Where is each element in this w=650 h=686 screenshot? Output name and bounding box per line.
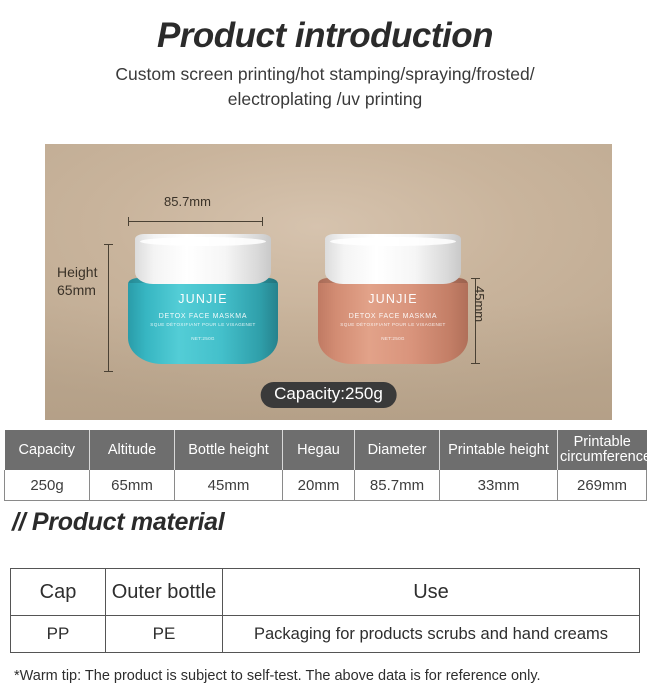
spec-table-value-row: 250g 65mm 45mm 20mm 85.7mm 33mm 269mm	[5, 470, 647, 500]
spec-header-bottle-height: Bottle height	[175, 430, 283, 470]
teal-jar-net-weight: NET:250G	[128, 336, 278, 341]
spec-header-altitude: Altitude	[90, 430, 175, 470]
pink-jar-net-weight: NET:250G	[318, 336, 468, 341]
spec-value-hegau: 20mm	[283, 470, 355, 500]
spec-value-capacity: 250g	[5, 470, 90, 500]
spec-header-printable-height: Printable height	[440, 430, 558, 470]
warm-tip-text: *Warm tip: The product is subject to sel…	[14, 668, 541, 684]
spec-value-printable-circumference: 269mm	[558, 470, 647, 500]
width-dimension-label: 85.7mm	[164, 194, 211, 209]
spec-header-printable-circumference: Printable circumference	[558, 430, 647, 470]
height-dimension-line	[108, 244, 109, 372]
spec-value-printable-height: 33mm	[440, 470, 558, 500]
height-dimension-label-value: 65mm	[57, 282, 97, 300]
teal-jar-french-line: SQUE DÉTOXIFIANT POUR LE VISAGENET	[128, 322, 278, 327]
teal-jar-body: JUNJIE DETOX FACE MASKMA SQUE DÉTOXIFIAN…	[128, 278, 278, 364]
pink-jar-lid	[325, 234, 461, 284]
material-header-outer-bottle: Outer bottle	[106, 569, 223, 616]
product-introduction-page: Product introduction Custom screen print…	[0, 16, 650, 686]
spec-table-header-row: Capacity Altitude Bottle height Hegau Di…	[5, 430, 647, 470]
product-photo: 85.7mm Height 65mm JUNJIE DETOX FACE MAS…	[45, 144, 612, 420]
material-value-cap: PP	[11, 616, 106, 653]
material-value-outer-bottle: PE	[106, 616, 223, 653]
height-dimension-label: Height 65mm	[57, 264, 97, 299]
spec-value-altitude: 65mm	[90, 470, 175, 500]
body-height-dimension-label: 45mm	[472, 286, 487, 322]
pink-jar: JUNJIE DETOX FACE MASKMA SQUE DÉTOXIFIAN…	[318, 234, 468, 364]
spec-header-diameter: Diameter	[355, 430, 440, 470]
material-table: Cap Outer bottle Use PP PE Packaging for…	[10, 568, 640, 653]
teal-jar-brand: JUNJIE	[128, 292, 278, 306]
pink-jar-body: JUNJIE DETOX FACE MASKMA SQUE DÉTOXIFIAN…	[318, 278, 468, 364]
spec-header-hegau: Hegau	[283, 430, 355, 470]
spec-header-capacity: Capacity	[5, 430, 90, 470]
material-header-use: Use	[223, 569, 640, 616]
spec-value-diameter: 85.7mm	[355, 470, 440, 500]
teal-jar: JUNJIE DETOX FACE MASKMA SQUE DÉTOXIFIAN…	[128, 234, 278, 364]
teal-jar-label: JUNJIE DETOX FACE MASKMA SQUE DÉTOXIFIAN…	[128, 292, 278, 341]
pink-jar-product-line: DETOX FACE MASKMA	[318, 313, 468, 320]
page-title: Product introduction	[0, 16, 650, 56]
teal-jar-lid	[135, 234, 271, 284]
material-table-header-row: Cap Outer bottle Use	[11, 569, 640, 616]
height-dimension-label-word: Height	[57, 264, 97, 282]
pink-jar-brand: JUNJIE	[318, 292, 468, 306]
material-value-use: Packaging for products scrubs and hand c…	[223, 616, 640, 653]
material-header-cap: Cap	[11, 569, 106, 616]
pink-jar-label: JUNJIE DETOX FACE MASKMA SQUE DÉTOXIFIAN…	[318, 292, 468, 341]
spec-table: Capacity Altitude Bottle height Hegau Di…	[4, 430, 647, 501]
width-dimension-line	[128, 221, 263, 222]
pink-jar-french-line: SQUE DÉTOXIFIANT POUR LE VISAGENET	[318, 322, 468, 327]
spec-value-bottle-height: 45mm	[175, 470, 283, 500]
material-table-value-row: PP PE Packaging for products scrubs and …	[11, 616, 640, 653]
capacity-badge: Capacity:250g	[260, 382, 397, 408]
teal-jar-product-line: DETOX FACE MASKMA	[128, 313, 278, 320]
page-subtitle: Custom screen printing/hot stamping/spra…	[0, 62, 650, 112]
product-material-heading: // Product material	[12, 508, 224, 537]
